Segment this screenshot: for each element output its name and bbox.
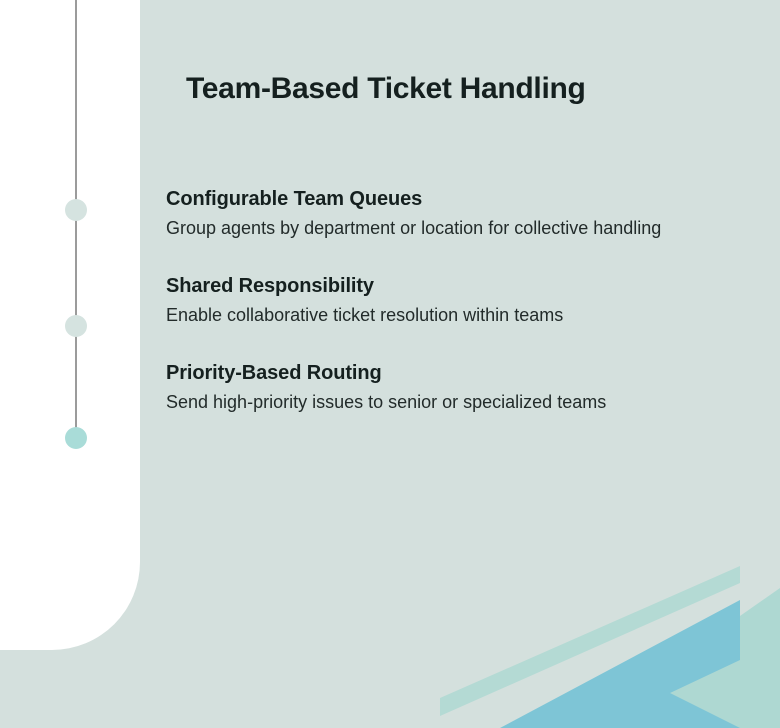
feature-list: Configurable Team Queues Group agents by…	[166, 186, 766, 418]
feature-description-1: Group agents by department or location f…	[166, 213, 741, 243]
list-item: Priority-Based Routing Send high-priorit…	[166, 360, 766, 417]
timeline-dot-3	[65, 427, 87, 449]
deco-back-panel	[580, 588, 780, 728]
page-title: Team-Based Ticket Handling	[186, 72, 586, 106]
feature-heading-2: Shared Responsibility	[166, 273, 766, 300]
feature-description-2: Enable collaborative ticket resolution w…	[166, 300, 741, 330]
feature-description-3: Send high-priority issues to senior or s…	[166, 387, 741, 417]
deco-chevron-arrow	[500, 600, 740, 728]
slide-canvas: Team-Based Ticket Handling Configurable …	[0, 0, 780, 728]
timeline-dot-2	[65, 315, 87, 337]
timeline-dot-1	[65, 199, 87, 221]
feature-heading-1: Configurable Team Queues	[166, 186, 766, 213]
decorative-chevron-graphic	[440, 548, 780, 728]
feature-heading-3: Priority-Based Routing	[166, 360, 766, 387]
list-item: Shared Responsibility Enable collaborati…	[166, 273, 766, 330]
list-item: Configurable Team Queues Group agents by…	[166, 186, 766, 243]
deco-diagonal-stripe	[440, 566, 740, 716]
